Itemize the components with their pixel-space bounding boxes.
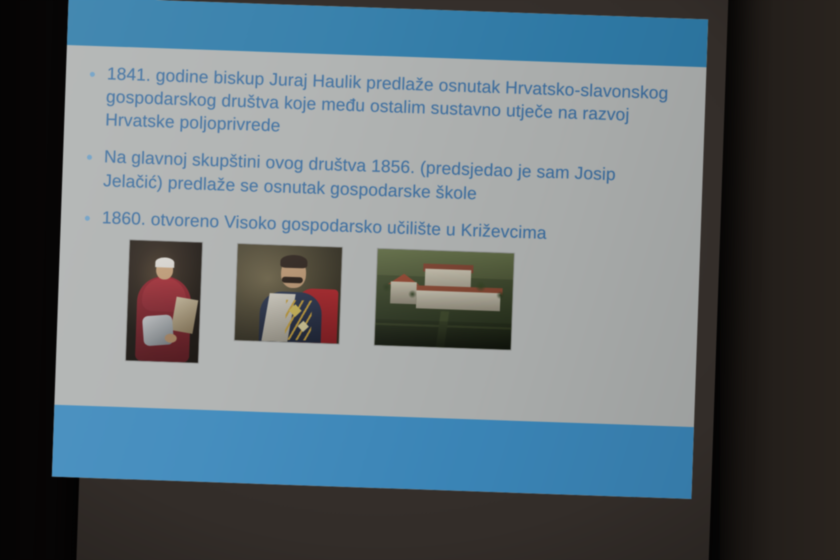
slide-container: 1841. godine biskup Juraj Haulik predlaž… — [52, 0, 708, 499]
portrait-gold-braid — [285, 300, 312, 341]
bullet-text: Na glavnoj skupštini ovog društva 1856. … — [103, 146, 677, 212]
photo-foreground-shadow — [375, 319, 512, 350]
bullet-dot-icon — [87, 155, 92, 160]
portrait-juraj-haulik-image — [126, 240, 202, 362]
slide-content: 1841. godine biskup Juraj Haulik predlaž… — [54, 45, 706, 427]
list-item: 1841. godine biskup Juraj Haulik predlaž… — [82, 62, 680, 152]
slide-image-row — [126, 240, 674, 379]
bullet-text: 1841. godine biskup Juraj Haulik predlaž… — [105, 62, 680, 151]
projected-slide-scene: 1841. godine biskup Juraj Haulik predlaž… — [0, 0, 840, 560]
portrait-hair — [155, 257, 174, 268]
bullet-dot-icon — [90, 72, 95, 77]
list-item: Na glavnoj skupštini ovog društva 1856. … — [80, 145, 677, 212]
portrait-hand — [165, 333, 177, 342]
portrait-josip-jelacic-image — [235, 244, 342, 344]
room-wall-right — [720, 0, 840, 560]
bullet-dot-icon — [85, 215, 90, 220]
portrait-hair — [280, 254, 307, 268]
slide: 1841. godine biskup Juraj Haulik predlaž… — [52, 0, 708, 499]
photo-krizevci-school-image — [375, 249, 514, 350]
portrait-moustache — [282, 276, 303, 283]
photo-trees — [376, 271, 513, 306]
